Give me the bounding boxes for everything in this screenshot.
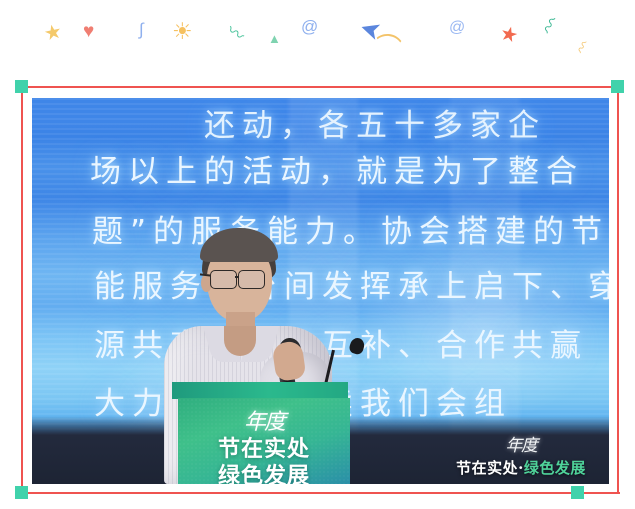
frame-line-top <box>20 86 620 88</box>
zigzag-green-doodle: 〰 <box>224 22 248 46</box>
screenshot-root: ★♥∫☀〰▲@➤⌒@★〰〰 还动，各五十多家企 场以上的活动，就是为了整合 题”… <box>0 0 635 509</box>
corner-square-bottom-left <box>15 486 28 499</box>
spiral-blue-2-doodle: @ <box>449 20 465 36</box>
floor-banner-script-logo: 年度 <box>436 431 606 456</box>
spiral-blue-doodle: @ <box>301 18 318 35</box>
triangle-doodle: ▲ <box>268 32 281 45</box>
zigzag-gold-doodle: 〰 <box>573 38 591 56</box>
speaker-glasses-bridge <box>235 276 239 278</box>
speaker-glasses-right <box>238 270 265 289</box>
decorative-doodle-band: ★♥∫☀〰▲@➤⌒@★〰〰 <box>0 0 635 80</box>
podium-slogan-line-2: 绿色发展 <box>178 458 350 484</box>
screen-text-line-1: 还动，各五十多家企 <box>204 100 546 145</box>
heart-burst-doodle: ♥ <box>83 22 94 41</box>
frame-line-bottom <box>20 492 620 494</box>
corner-square-bottom-right <box>571 486 584 499</box>
corner-square-top-right <box>611 80 624 93</box>
squiggle-blue-doodle: ∫ <box>139 21 144 38</box>
sun-doodle: ☀ <box>172 20 193 43</box>
speaker-photo: 还动，各五十多家企 场以上的活动，就是为了整合 题”的服务能力。协会搭建的节 能… <box>32 98 609 484</box>
speaker-hair-top <box>200 228 278 262</box>
corner-square-top-left <box>15 80 28 93</box>
star-red-doodle: ★ <box>498 23 520 47</box>
podium-front-panel: 年度 节在实处 绿色发展 <box>178 398 350 484</box>
screen-text-line-2: 场以上的活动，就是为了整合 <box>90 146 584 191</box>
floor-banner-slogan: 节在实处·绿色发展 <box>436 457 606 478</box>
frame-line-left <box>21 86 23 493</box>
plane-trail-doodle: ⌒ <box>373 32 402 61</box>
speaker-glasses-left <box>210 270 237 289</box>
zigzag-green-2-doodle: 〰 <box>537 13 560 36</box>
floor-banner: 年度 节在实处·绿色发展 <box>436 431 606 478</box>
podium-top-surface <box>172 382 348 399</box>
floor-banner-slogan-part2: 绿色发展 <box>524 459 586 477</box>
floor-banner-slogan-part1: 节在实处· <box>456 459 524 477</box>
frame-line-right <box>617 86 619 493</box>
star-doodle: ★ <box>42 21 64 44</box>
